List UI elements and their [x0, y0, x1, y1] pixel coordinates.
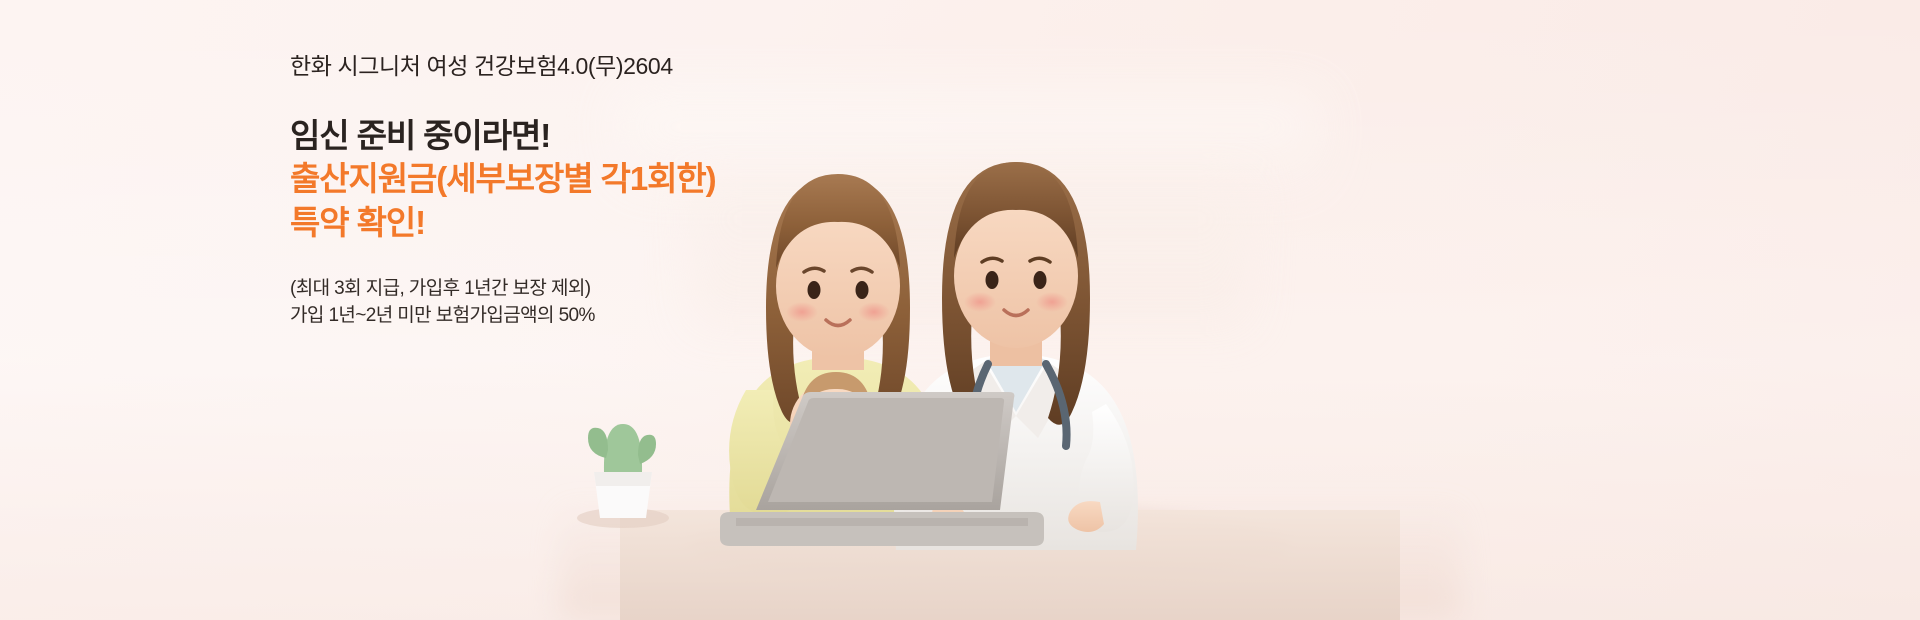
headline-group: 임신 준비 중이라면! 출산지원금(세부보장별 각1회한) 특약 확인! [290, 114, 1050, 245]
subcopy-line-2: 가입 1년~2년 미만 보험가입금액의 50% [290, 302, 1050, 330]
headline-line-2: 출산지원금(세부보장별 각1회한) [290, 157, 1050, 201]
potted-cactus [577, 424, 669, 528]
promo-banner: 한화 시그니처 여성 건강보험4.0(무)2604 임신 준비 중이라면! 출산… [0, 0, 1920, 620]
headline-line-1: 임신 준비 중이라면! [290, 114, 1050, 158]
subcopy-line-1: (최대 3회 지급, 가입후 1년간 보장 제외) [290, 275, 1050, 303]
copy-block: 한화 시그니처 여성 건강보험4.0(무)2604 임신 준비 중이라면! 출산… [290, 52, 1050, 330]
headline-line-3: 특약 확인! [290, 201, 1050, 245]
subcopy-group: (최대 3회 지급, 가입후 1년간 보장 제외) 가입 1년~2년 미만 보험… [290, 275, 1050, 330]
product-name: 한화 시그니처 여성 건강보험4.0(무)2604 [290, 52, 1050, 82]
